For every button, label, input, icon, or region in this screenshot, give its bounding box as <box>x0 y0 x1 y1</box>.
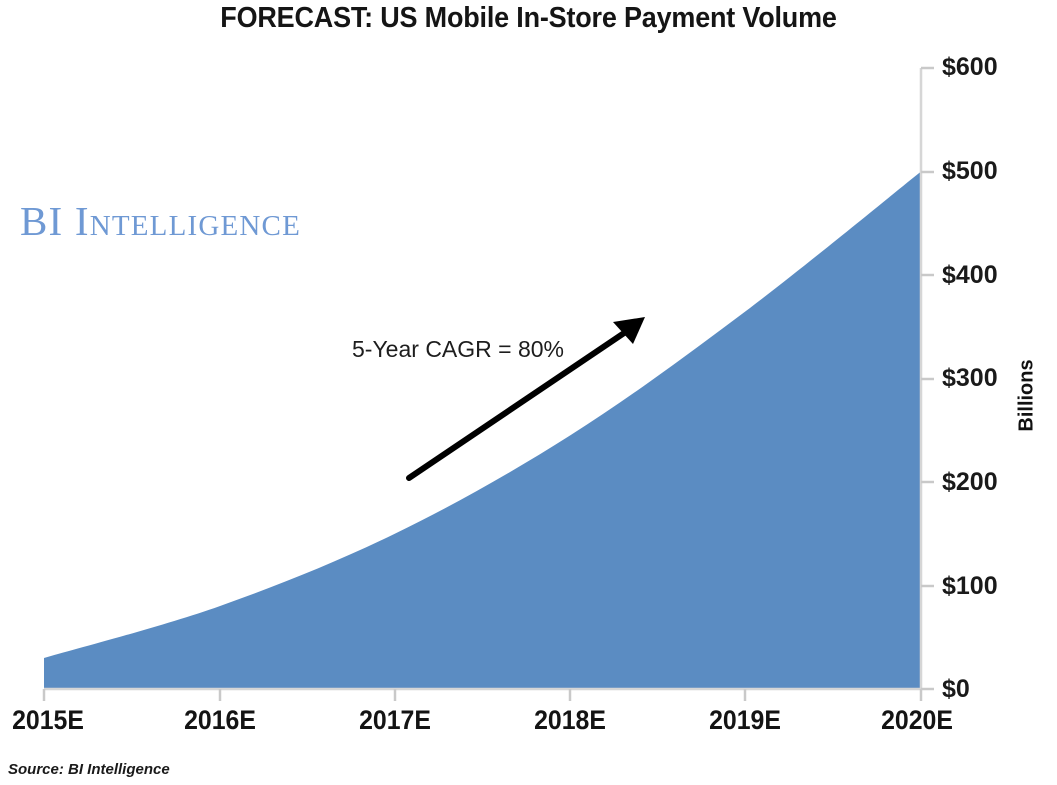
cagr-annotation-label: 5-Year CAGR = 80% <box>352 336 564 363</box>
y-tick-label-100: $100 <box>942 574 998 599</box>
y-tick-label-600: $600 <box>942 55 998 80</box>
y-tick-label-500: $500 <box>942 159 998 184</box>
source-note: Source: BI Intelligence <box>8 761 170 778</box>
plot-area <box>0 0 1057 785</box>
y-tick-label-300: $300 <box>942 366 998 391</box>
y-tick-label-0: $0 <box>942 677 970 702</box>
x-axis-ticks <box>44 689 921 701</box>
x-tick-label-2018e: 2018E <box>534 705 606 736</box>
y-tick-label-400: $400 <box>942 263 998 288</box>
y-tick-label-200: $200 <box>942 470 998 495</box>
forecast-area-chart: FORECAST: US Mobile In-Store Payment Vol… <box>0 0 1057 785</box>
x-tick-label-2019e: 2019E <box>709 705 781 736</box>
x-tick-label-2017e: 2017E <box>359 705 431 736</box>
x-tick-label-2016e: 2016E <box>184 705 256 736</box>
y-axis-title: Billions <box>1007 335 1047 455</box>
y-axis-ticks <box>921 68 934 689</box>
y-axis-title-text: Billions <box>1016 359 1039 431</box>
x-tick-label-2020e: 2020E <box>881 705 953 736</box>
x-tick-label-2015e: 2015E <box>12 705 84 736</box>
